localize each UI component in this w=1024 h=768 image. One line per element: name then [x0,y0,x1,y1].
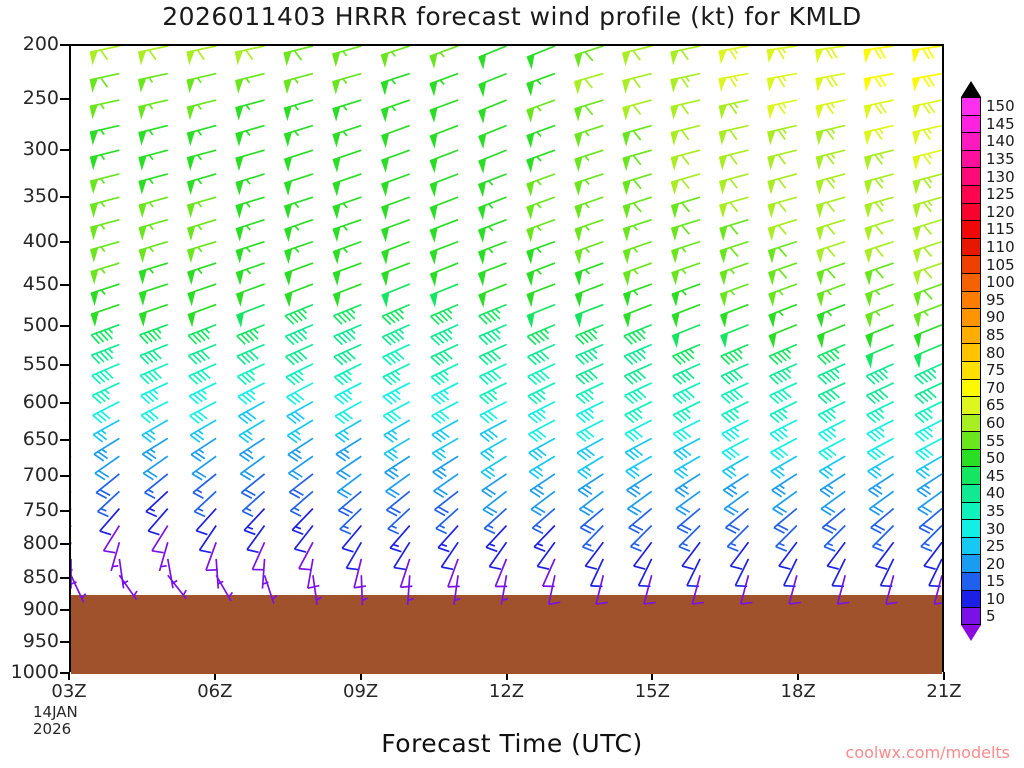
wind-barb [596,575,608,604]
wind-barb [139,150,168,169]
colorbar-label: 145 [986,115,1015,133]
wind-barb [313,575,322,605]
wind-barb [287,383,313,404]
wind-barb [867,383,894,404]
wind-barb [817,220,846,240]
wind-barb [188,344,216,364]
wind-barb [673,364,700,384]
colorbar-swatch: 85 [961,326,981,344]
wind-barb [238,402,264,424]
wind-barb [299,542,313,569]
wind-barb [333,242,361,263]
wind-barb [719,150,748,168]
wind-barb [818,383,845,404]
y-tick-mark [60,364,69,366]
wind-barb [770,402,797,423]
wind-barb [623,242,651,263]
wind-barb [768,174,797,193]
wind-barb [721,383,748,404]
x-tick-label: 18Z [781,681,816,702]
wind-barb [914,242,942,262]
wind-barb [333,220,361,241]
colorbar-swatch: 40 [961,484,981,502]
wind-barb [671,174,700,193]
wind-barb [575,174,603,194]
wind-barb [94,438,119,461]
wind-barb [575,126,603,146]
wind-barb [527,46,555,68]
wind-barb [432,402,458,423]
colorbar-swatch: 25 [961,537,981,555]
y-tick-mark [60,577,69,579]
y-tick-mark [60,325,69,327]
wind-barb [90,100,119,117]
wind-barb [111,542,119,571]
wind-barb [430,220,458,241]
wind-barb [720,197,749,216]
wind-barb [723,456,749,478]
y-tick-mark [60,98,69,100]
wind-barb [769,305,797,326]
wind-barb [187,126,216,145]
wind-barb [722,438,748,459]
wind-barb [237,344,264,364]
colorbar-label: 70 [986,379,1005,397]
wind-barb [575,74,604,93]
wind-barb [770,364,797,384]
colorbar-label: 80 [986,344,1005,362]
wind-barb [479,220,507,241]
wind-barb [284,74,313,93]
y-tick-label: 250 [23,87,59,109]
wind-barb [382,197,410,218]
wind-barb [527,263,555,284]
wind-barb [479,46,507,68]
wind-barb [625,438,651,459]
wind-barb [430,284,458,306]
wind-barb [527,100,555,121]
wind-barb [527,150,555,171]
colorbar-swatch: 30 [961,519,981,537]
wind-barb [527,197,555,218]
colorbar-swatch: 5 [961,607,981,625]
wind-barb [529,456,555,478]
wind-barb [623,174,652,194]
wind-barb [139,284,167,304]
y-tick-label: 350 [23,185,59,207]
wind-barb [529,420,555,441]
wind-barb [285,197,313,217]
wind-barb [916,456,942,478]
wind-barb [816,100,845,117]
y-tick-label: 950 [23,630,59,652]
wind-barb [623,220,651,240]
wind-barb [93,402,120,423]
wind-barb [236,74,265,92]
wind-barb [916,438,942,459]
wind-barb [866,284,894,305]
y-tick-mark [60,475,69,477]
wind-barb [188,305,216,326]
wind-barb [868,456,894,478]
wind-barb [865,150,894,168]
y-tick-label: 300 [23,138,59,160]
wind-barb [236,197,265,217]
wind-barb-layer [71,46,942,670]
wind-barb [479,344,506,364]
wind-barb [252,542,264,569]
wind-barb [139,74,168,91]
colorbar-label: 20 [986,555,1005,573]
wind-barb [479,150,507,172]
wind-barb [625,383,652,404]
wind-barb [382,284,410,306]
wind-barb [767,74,796,90]
wind-barb [721,305,749,326]
wind-barb [382,220,410,241]
colorbar-swatch: 145 [961,115,981,133]
wind-barb [92,383,119,404]
wind-barb [191,438,216,461]
wind-barb [816,150,845,168]
wind-barb [816,46,846,62]
page-title: 2026011403 HRRR forecast wind profile (k… [0,2,1024,31]
wind-barb [769,263,797,284]
wind-barb [864,46,894,62]
wind-barb [867,438,893,459]
wind-barb [913,74,942,90]
colorbar-arrow-bottom [961,625,981,641]
wind-barb [768,242,796,262]
colorbar-label: 45 [986,467,1005,485]
wind-barb [672,242,700,262]
wind-barb [430,100,458,121]
wind-barb [333,74,362,93]
colorbar-label: 5 [986,607,996,625]
x-tick-label: 06Z [197,681,232,702]
wind-barb [623,100,652,119]
wind-barb [644,575,656,604]
wind-barb [187,197,216,216]
wind-barb [238,383,265,404]
wind-barb [190,420,216,442]
colorbar-swatch: 55 [961,431,981,449]
wind-barb [430,74,458,95]
wind-barb [479,325,506,345]
wind-barb [789,575,801,604]
wind-barb [139,126,168,144]
wind-barb [575,305,603,326]
wind-barb [400,559,412,587]
wind-barb [333,263,361,284]
wind-barb [286,364,313,385]
wind-barb [770,383,797,404]
wind-barb [819,420,846,441]
x-tick-label: 15Z [635,681,670,702]
wind-barb [769,284,797,305]
wind-barb [915,402,942,423]
wind-barb [140,325,168,344]
wind-barb [335,420,361,442]
wind-barb [284,46,313,64]
wind-barb [160,542,168,571]
y-tick-mark [60,609,69,611]
colorbar-label: 15 [986,572,1005,590]
wind-barb [672,284,700,305]
wind-barb [671,150,700,169]
wind-barb [817,197,846,216]
wind-barb [287,402,313,424]
wind-barb [673,402,700,423]
wind-barb [816,74,845,90]
wind-barb [91,263,120,283]
wind-barb [479,364,506,385]
wind-barb [285,150,313,170]
wind-barb [119,559,128,589]
wind-barb [168,575,186,598]
wind-barb [92,364,119,384]
wind-barb [333,284,361,305]
wind-barb [671,74,700,91]
y-tick-mark [60,641,69,643]
wind-barb [188,284,216,305]
wind-barb [674,456,700,478]
colorbar-label: 125 [986,185,1015,203]
wind-barb [139,242,168,262]
wind-barb [671,197,700,217]
x-tick-label: 12Z [489,681,524,702]
wind-barb [188,220,217,240]
wind-barb [383,364,410,385]
wind-barb [913,126,942,144]
wind-barb [577,420,604,441]
wind-barb [187,150,216,169]
wind-barb [236,150,265,169]
wind-barb [333,126,361,146]
wind-barb [575,284,603,305]
colorbar-swatch: 90 [961,308,981,326]
wind-barb [692,575,704,604]
y-tick-label: 550 [23,353,59,375]
y-tick-label: 1000 [11,661,59,683]
wind-barb [333,150,361,171]
colorbar-swatch: 100 [961,273,981,291]
wind-barb [382,263,410,284]
wind-barb [527,305,555,327]
wind-barb [719,74,748,90]
wind-barb [285,325,312,345]
y-tick-label: 200 [23,33,59,55]
colorbar-swatch: 115 [961,220,981,238]
colorbar-swatch: 110 [961,238,981,256]
colorbar-swatch: 130 [961,167,981,185]
wind-barb [236,126,265,145]
wind-barb [382,325,409,345]
x-tick-label: 09Z [343,681,378,702]
y-tick-mark [60,149,69,151]
wind-barb [624,284,652,305]
wind-barb [624,364,651,384]
wind-barb [575,242,603,263]
wind-barb [576,402,603,423]
wind-barb [240,438,265,461]
wind-barb [480,420,506,441]
y-tick-label: 450 [23,273,59,295]
colorbar-swatch: 75 [961,361,981,379]
colorbar-swatch: 10 [961,590,981,608]
wind-barb [382,174,410,195]
colorbar-swatch: 45 [961,466,981,484]
wind-barb [90,126,119,144]
wind-barb [673,383,700,404]
colorbar-swatch: 125 [961,185,981,203]
wind-barb [625,402,652,423]
wind-barb [575,263,603,284]
wind-barb [237,325,265,345]
wind-barb [528,344,555,364]
wind-barb [864,100,893,117]
wind-barb [236,284,264,305]
colorbar-label: 135 [986,150,1015,168]
wind-profile-plot[interactable] [69,44,944,672]
x-tick-label: 03Z [51,681,86,702]
wind-barb [140,344,168,364]
colorbar-swatch: 20 [961,554,981,572]
wind-barb [624,344,651,364]
wind-barb [768,197,797,216]
colorbar-label: 150 [986,97,1015,115]
wind-barb [285,263,313,284]
wind-barb [91,325,119,344]
wind-barb [430,150,458,171]
wind-barb [90,74,119,91]
wind-barb [576,344,603,364]
wind-barb [817,305,845,326]
wind-barb [479,126,507,148]
wind-barb [361,575,367,605]
wind-barb [139,263,168,283]
wind-barb [479,100,507,122]
y-tick-mark [60,241,69,243]
wind-barb [719,46,748,62]
wind-barb [575,46,603,66]
y-tick-label: 400 [23,230,59,252]
wind-barb [913,100,942,117]
wind-barb [430,242,458,263]
wind-barb [479,197,507,218]
wind-barb [239,420,265,442]
wind-barb [866,325,894,347]
wind-barb [720,242,748,262]
wind-barb [818,364,845,384]
wind-barb [187,174,216,193]
colorbar-swatch: 15 [961,572,981,590]
wind-barb [528,364,555,385]
wind-barb [719,126,748,144]
wind-barb [865,174,894,193]
wind-barb [577,438,603,460]
wind-barb [430,197,458,218]
wind-barb [333,174,361,195]
wind-barb [236,263,264,284]
wind-barb [866,305,894,326]
wind-barb [141,402,168,423]
wind-barb [934,575,942,604]
wind-barb [431,325,458,345]
wind-barb [430,126,458,147]
wind-barb [188,263,216,283]
wind-barb [432,438,458,460]
wind-barb [333,100,362,120]
wind-barb [284,126,313,146]
y-tick-label: 750 [23,499,59,521]
wind-barb [237,364,264,385]
wind-barb [671,100,700,118]
wind-barb [430,174,458,195]
wind-barb [867,420,894,441]
wind-barb [481,438,507,460]
wind-barb [235,46,264,63]
wind-barb [384,420,410,442]
wind-barb [335,402,361,424]
wind-barb [190,402,216,423]
colorbar-swatch: 95 [961,291,981,309]
wind-barb [865,197,894,216]
wind-barb [236,174,265,194]
colorbar-label: 25 [986,537,1005,555]
colorbar-label: 30 [986,520,1005,538]
wind-barb [672,305,700,326]
wind-barb [188,325,216,344]
wind-barb [334,344,361,364]
colorbar-arrow-top [961,81,981,97]
colorbar-swatch: 35 [961,502,981,520]
wind-barb [479,263,507,284]
wind-barb [479,74,507,96]
wind-barb [381,100,409,121]
wind-barb [285,220,313,241]
wind-barb [674,438,700,459]
wind-barb [913,174,942,193]
x-tick-label: 21Z [926,681,961,702]
wind-barb [236,220,264,240]
wind-barb [575,100,604,120]
wind-barb [285,174,313,194]
wind-barb [334,325,361,345]
watermark: coolwx.com/modelts [846,743,1010,762]
wind-barb [139,46,168,63]
wind-barb [187,46,216,63]
wind-barb [768,220,797,240]
wind-barb [141,383,168,404]
y-tick-label: 800 [23,532,59,554]
wind-barb [913,197,942,216]
wind-barb [623,74,652,92]
wind-barb [383,344,410,365]
wind-barb [720,284,748,305]
wind-barb [672,263,700,284]
colorbar-label: 50 [986,449,1005,467]
wind-barb [479,284,507,306]
y-tick-label: 650 [23,428,59,450]
wind-barb [837,575,849,604]
wind-barb [285,305,313,325]
wind-barb [624,325,652,345]
colorbar-swatch: 140 [961,132,981,150]
wind-barb [817,242,845,262]
wind-barb [431,305,458,325]
wind-barb [576,325,604,345]
